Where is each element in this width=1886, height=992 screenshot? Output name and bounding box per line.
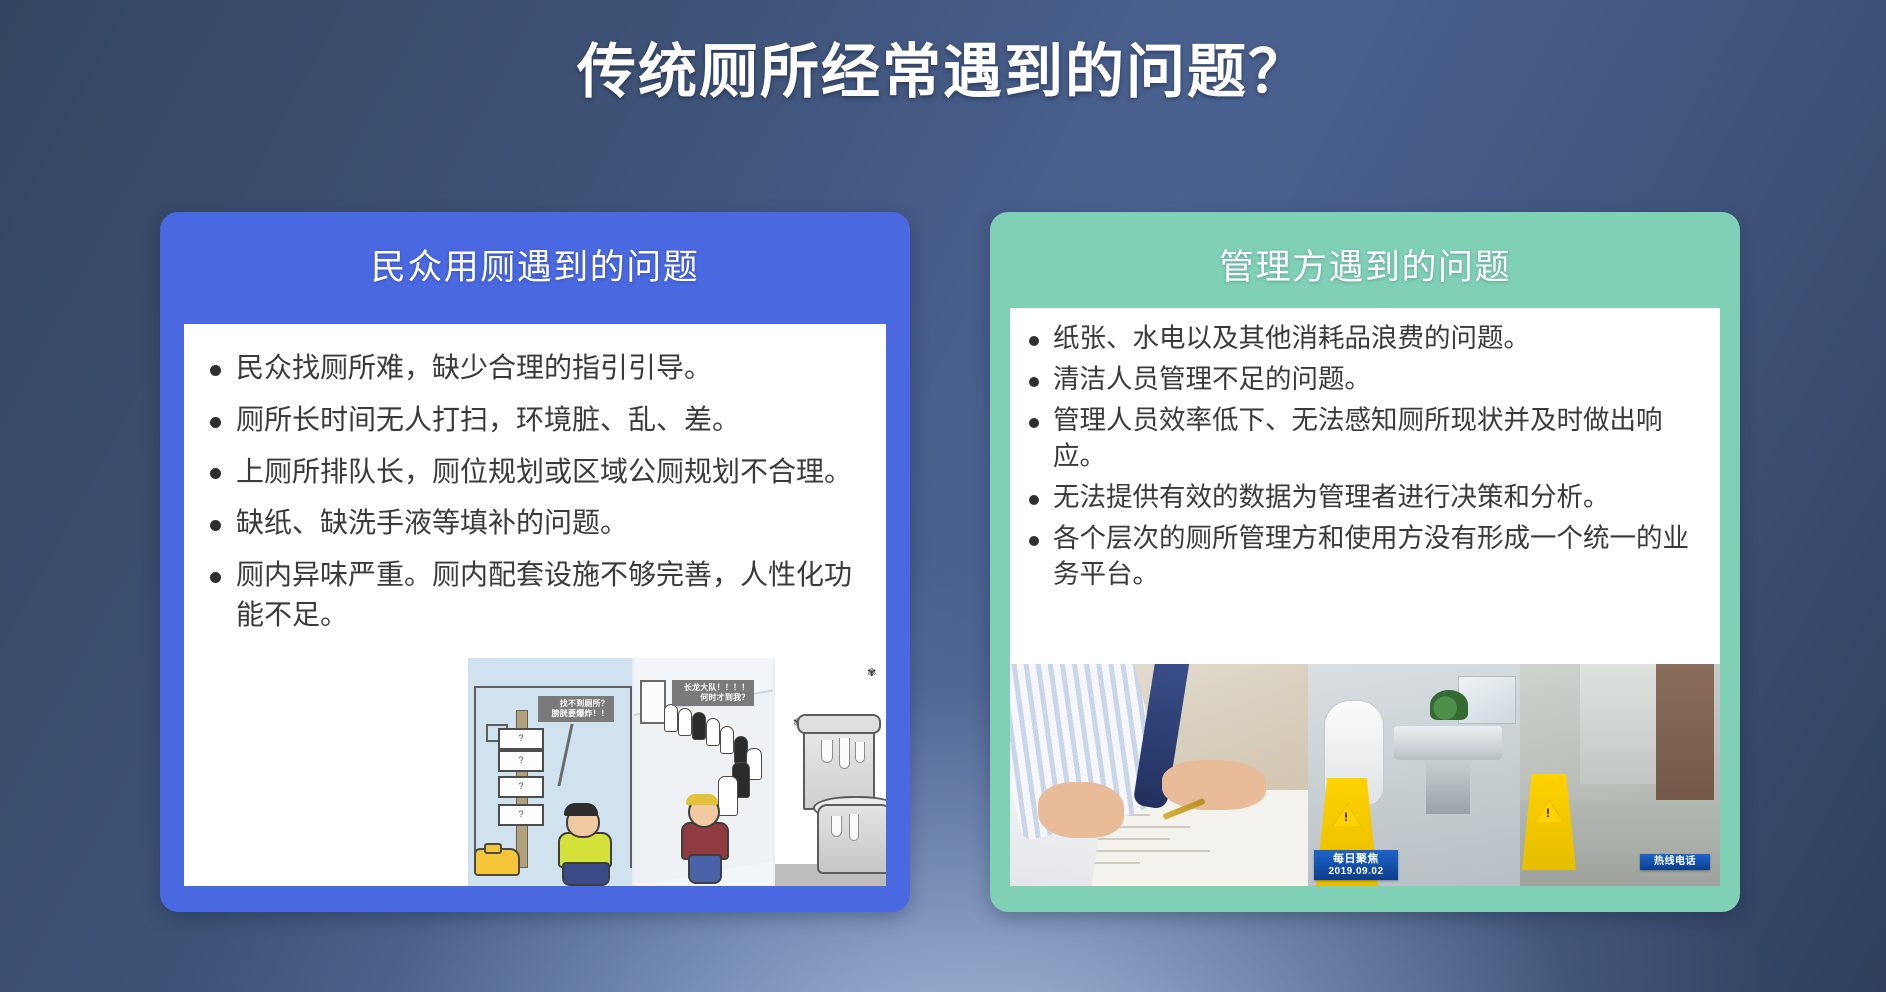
cartoon-long-queue-image: 长龙大队！！！！ 何时才到我？ [634, 658, 775, 886]
stain-drip [839, 738, 850, 769]
photo-strip: 每日聚焦 2019.09.02 热线电话 [1010, 664, 1720, 886]
plant-icon [1430, 690, 1468, 720]
pointing-hand [1038, 782, 1124, 838]
card-header-public-users: 民众用厕遇到的问题 [160, 212, 910, 324]
waiting-man-figure [678, 796, 728, 880]
list-item: 无法提供有效的数据为管理者进行决策和分析。 [1026, 479, 1702, 515]
photo-restroom-sink-urinal: 每日聚焦 2019.09.02 [1308, 664, 1520, 886]
queue-person [692, 712, 706, 740]
bullet-list-public-users: 民众找厕所难，缺少合理的指引引导。 厕所长时间无人打扫，环境脏、乱、差。 上厕所… [184, 324, 886, 635]
tv-watermark: 每日聚焦 2019.09.02 [1314, 850, 1398, 880]
toilet-illustration [791, 700, 886, 880]
distressed-man-figure [552, 806, 614, 882]
toilet-door-icon [640, 680, 666, 724]
queue-person [720, 726, 734, 754]
watermark-title: 热线电话 [1654, 856, 1696, 867]
queue-person [664, 704, 678, 732]
card-public-users: 民众用厕遇到的问题 民众找厕所难，缺少合理的指引引导。 厕所长时间无人打扫，环境… [160, 212, 910, 912]
slide-root: 传统厕所经常遇到的问题？ 民众用厕遇到的问题 民众找厕所难，缺少合理的指引引导。… [0, 0, 1886, 992]
cartoon-speech-bubble: 找不到厕所？ 膀胱要爆炸！！ [538, 696, 614, 722]
page-title: 传统厕所经常遇到的问题？ [0, 38, 1886, 106]
list-item: 厕所长时间无人打扫，环境脏、乱、差。 [206, 400, 864, 440]
queue-person [678, 708, 692, 736]
direction-sign-icon: ? [498, 776, 544, 798]
cartoon-dirty-toilet-image: ✾ ✾ [775, 658, 886, 886]
list-item: 管理人员效率低下、无法感知厕所现状并及时做出响应。 [1026, 402, 1702, 474]
direction-sign-icon: ? [498, 728, 544, 750]
pointing-hand [1162, 760, 1266, 810]
card-body-public-users: 民众找厕所难，缺少合理的指引引导。 厕所长时间无人打扫，环境脏、乱、差。 上厕所… [184, 324, 886, 886]
cartoon-strip: ? ? ? ? 找不到厕所？ 膀胱要爆炸！！ [468, 658, 886, 886]
sink-stand-shape [1426, 760, 1470, 814]
watermark-date: 2019.09.02 [1314, 866, 1398, 880]
list-item: 民众找厕所难，缺少合理的指引引导。 [206, 348, 864, 388]
stain-drip [831, 816, 842, 837]
watermark-title: 每日聚焦 [1314, 850, 1398, 866]
list-item: 纸张、水电以及其他消耗品浪费的问题。 [1026, 320, 1702, 356]
direction-sign-icon: ? [498, 750, 544, 772]
stain-drip [849, 814, 859, 841]
cartoon-speech-bubble: 长龙大队！！！！ 何时才到我？ [672, 680, 754, 706]
toilet-tank-lid [797, 714, 881, 734]
sink-shape [1394, 726, 1502, 760]
hotline-watermark: 热线电话 [1640, 854, 1710, 870]
cartoon-cannot-find-toilet-image: ? ? ? ? 找不到厕所？ 膀胱要爆炸！！ [468, 658, 634, 886]
stain-drip [855, 742, 865, 763]
card-managers: 管理方遇到的问题 纸张、水电以及其他消耗品浪费的问题。 清洁人员管理不足的问题。… [990, 212, 1740, 912]
list-item: 上厕所排队长，厕位规划或区域公厕规划不合理。 [206, 452, 864, 492]
list-item: 清洁人员管理不足的问题。 [1026, 361, 1702, 397]
direction-sign-icon: ? [498, 804, 544, 826]
card-body-managers: 纸张、水电以及其他消耗品浪费的问题。 清洁人员管理不足的问题。 管理人员效率低下… [1010, 308, 1720, 886]
stain-drip [821, 740, 833, 763]
taxi-icon [474, 848, 520, 876]
queue-person [706, 718, 720, 746]
list-item: 缺纸、缺洗手液等填补的问题。 [206, 503, 864, 543]
wet-floor-sign-icon [1522, 774, 1576, 870]
list-item: 各个层次的厕所管理方和使用方没有形成一个统一的业务平台。 [1026, 520, 1702, 592]
photo-restroom-entrance-wet-floor: 热线电话 [1520, 664, 1720, 886]
photo-managers-reviewing-plan [1010, 664, 1308, 886]
bullet-list-managers: 纸张、水电以及其他消耗品浪费的问题。 清洁人员管理不足的问题。 管理人员效率低下… [1010, 308, 1720, 592]
fly-icon: ✾ [867, 666, 876, 679]
list-item: 厕内异味严重。厕内配套设施不够完善，人性化功能不足。 [206, 555, 864, 635]
